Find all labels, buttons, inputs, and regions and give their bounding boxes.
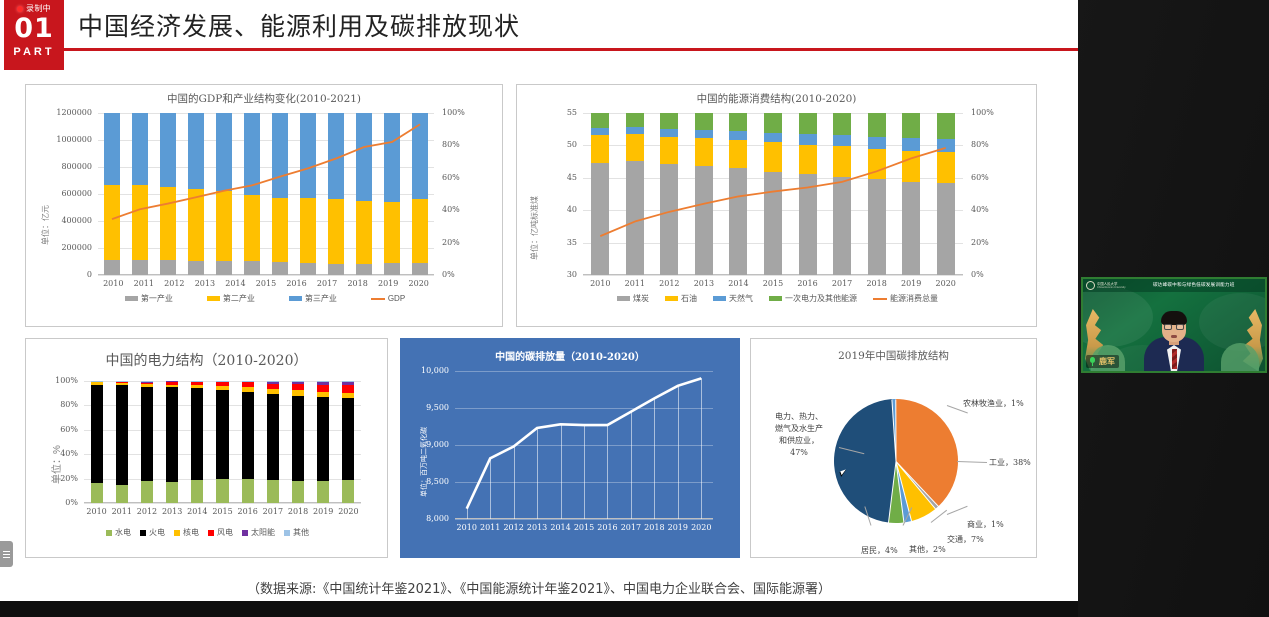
x-tick: 2011 [109,507,134,516]
part-word: PART [4,43,64,61]
legend-swatch [284,530,290,536]
plot-area-power: 0%20%40%60%80%100%2010201120122013201420… [84,381,361,503]
y2-tick: 40% [442,205,460,214]
chart-card-gdp: 中国的GDP和产业结构变化(2010-2021) 020000040000060… [25,84,503,327]
chart-card-carbon: 中国的碳排放量（2010-2020） 8,0008,5009,0009,5001… [400,338,740,558]
x-tick: 2012 [652,279,687,288]
bar-segment [216,386,228,390]
bar-segment [141,481,153,503]
data-line [455,371,713,519]
legend-item: 火电 [140,527,165,538]
x-tick: 2019 [894,279,929,288]
bar-segment [91,483,103,503]
panel-toggle-icon[interactable] [0,541,13,567]
gridline [583,275,963,276]
bar-segment [242,392,254,479]
bar-segment [216,479,228,503]
legend-item: 第二产业 [207,293,255,304]
x-tick: 2012 [502,523,525,532]
y2-tick: 80% [442,140,460,149]
y2-tick: 100% [971,108,994,117]
bar-segment [166,387,178,482]
legend-label: 能源消费总量 [890,293,938,304]
x-tick: 2020 [403,279,434,288]
y-tick: 35 [517,238,577,247]
video-header-bar: 中国人民大学 China Renmin University 碳达峰碳中和与绿色… [1083,279,1265,292]
legend-item: 其他 [284,527,309,538]
x-tick: 2011 [129,279,160,288]
x-tick: 2020 [336,507,361,516]
legend-swatch [617,296,630,301]
x-tick: 2017 [825,279,860,288]
legend-item: 能源消费总量 [873,293,938,304]
x-tick: 2014 [549,523,572,532]
chart-title-power: 中国的电力结构（2010-2020） [26,350,387,370]
x-tick: 2016 [235,507,260,516]
pie-label-line: 电力、热力、 [757,411,841,423]
bar-segment [141,387,153,482]
glasses-icon [1164,324,1184,330]
video-banner-text: 碳达峰碳中和与绿色低碳发展训能力班 [1153,282,1235,288]
chart-title-energy: 中国的能源消费结构(2010-2020) [517,91,1036,106]
plot-area-energy: 3035404550550%20%40%60%80%100%2010201120… [583,113,963,275]
slide-bottom-bar [0,601,1078,617]
bar-segment [191,388,203,479]
org-sub: China Renmin University [1097,286,1126,290]
x-tick: 2020 [690,523,713,532]
legend-swatch [371,298,385,300]
y-axis-label-carbon: 单位：百万吨二氧化碳 [419,427,429,497]
source-note: （数据来源:《中国统计年鉴2021》、《中国能源统计年鉴2021》、中国电力企业… [0,578,1078,597]
bar-segment [141,382,153,384]
part-badge: 录制中 01 PART [4,0,64,70]
bar-segment [317,397,329,480]
bar-segment [116,381,128,383]
y2-tick: 40% [971,205,989,214]
x-tick: 2019 [311,507,336,516]
x-tick: 2010 [98,279,129,288]
gridline [84,503,361,504]
legend-swatch [769,296,782,301]
bar-segment [267,394,279,480]
chart-card-power: 中国的电力结构（2010-2020） 0%20%40%60%80%100%201… [25,338,388,558]
bar-segment [242,382,254,387]
legend-label: 第二产业 [223,293,255,304]
recording-dot-icon [17,6,23,12]
bar-segment [141,384,153,386]
y-axis-label-energy: 单位：亿吨标准煤 [529,196,540,260]
legend-label: 石油 [681,293,697,304]
x-tick: 2013 [687,279,722,288]
bar-segment [216,390,228,479]
title-divider [64,48,1078,51]
legend-label: 水电 [115,527,131,538]
gridline [455,519,713,520]
slice-separator [895,399,896,461]
bar-segment [292,481,304,503]
legend-swatch [106,530,112,536]
y-tick: 50 [517,140,577,149]
meeting-window: 录制中 01 PART 中国经济发展、能源利用及碳排放现状 中国的GDP和产业结… [0,0,1269,617]
x-tick: 2015 [210,507,235,516]
legend-item: 风电 [208,527,233,538]
x-tick: 2014 [185,507,210,516]
legend-label: 天然气 [729,293,753,304]
x-tick: 2010 [455,523,478,532]
plot-area-carbon: 8,0008,5009,0009,50010,00020102011201220… [455,371,713,519]
y-tick: 0% [18,498,78,507]
x-tick: 2015 [572,523,595,532]
legend-label: 太阳能 [251,527,275,538]
legend-item: 太阳能 [242,527,275,538]
bar-segment [242,387,254,391]
x-tick: 2018 [342,279,373,288]
legend-power: 水电火电核电风电太阳能其他 [26,527,389,538]
legend-swatch [713,296,726,301]
legend-label: 第一产业 [141,293,173,304]
y-tick: 9,500 [389,403,449,412]
bar-segment [267,389,279,394]
pie-label-line: 和供应业， [757,435,841,447]
bar-segment [342,393,354,399]
pie-slice-label: 其他，2% [909,544,959,555]
y-tick: 40 [517,205,577,214]
bar-segment [116,385,128,485]
legend-item: 煤炭 [617,293,649,304]
x-tick: 2010 [583,279,618,288]
pie-slice-label: 工业，38% [989,457,1045,468]
legend-gdp: 第一产业第二产业第三产业GDP [26,293,504,304]
legend-label: GDP [388,294,405,303]
participant-name: 鹿军 [1099,356,1115,367]
y-tick: 55 [517,108,577,117]
legend-swatch [289,296,302,301]
legend-item: 石油 [665,293,697,304]
bar-segment [342,381,354,385]
y-tick: 10,000 [389,366,449,375]
y-tick: 1200000 [32,108,92,117]
bar-segment [292,384,304,390]
legend-swatch [125,296,138,301]
bar-segment [267,382,279,384]
legend-label: 一次电力及其他能源 [785,293,857,304]
bar-segment [191,381,203,382]
x-tick: 2015 [756,279,791,288]
bar-segment [91,382,103,384]
legend-item: 一次电力及其他能源 [769,293,857,304]
x-tick: 2016 [596,523,619,532]
data-line [98,113,434,275]
chart-title-gdp: 中国的GDP和产业结构变化(2010-2021) [26,91,502,106]
plot-area-gdp: 0200000400000600000800000100000012000000… [98,113,434,275]
legend-swatch [242,530,248,536]
legend-item: 水电 [106,527,131,538]
bar-segment [141,381,153,382]
y2-tick: 0% [442,270,455,279]
chart-title-carbon: 中国的碳排放量（2010-2020） [401,348,739,363]
bar-segment [166,381,178,384]
video-tile-participant[interactable]: 中国人民大学 China Renmin University 碳达峰碳中和与绿色… [1081,277,1267,373]
y-tick: 100% [18,376,78,385]
pie-slice-label: 电力、热力、燃气及水生产和供应业，47% [757,411,841,459]
y-tick: 800000 [32,162,92,171]
pie-slice-label: 商业，1% [967,519,1019,530]
y2-tick: 0% [971,270,984,279]
y-tick: 0 [32,270,92,279]
y2-tick: 60% [971,173,989,182]
pie-slice-label: 居民，4% [861,545,911,556]
bar-segment [342,398,354,480]
x-tick: 2013 [160,507,185,516]
data-line [583,113,963,275]
bar-segment [292,396,304,482]
y-tick: 60% [18,425,78,434]
slide-header: 中国经济发展、能源利用及碳排放现状 [64,0,1078,56]
x-tick: 2011 [618,279,653,288]
pie-label-line: 燃气及水生产 [757,423,841,435]
y-tick: 30 [517,270,577,279]
x-tick: 2015 [251,279,282,288]
leader-line [947,506,968,515]
y-tick: 80% [18,400,78,409]
x-tick: 2012 [159,279,190,288]
bar-segment [317,385,329,392]
y2-tick: 20% [442,238,460,247]
y2-tick: 20% [971,238,989,247]
legend-label: 风电 [217,527,233,538]
bar-segment [242,479,254,503]
legend-item: 核电 [174,527,199,538]
legend-swatch [174,530,180,536]
x-tick: 2017 [619,523,642,532]
x-tick: 2017 [312,279,343,288]
x-tick: 2017 [260,507,285,516]
legend-swatch [207,296,220,301]
legend-label: 煤炭 [633,293,649,304]
y2-tick: 60% [442,173,460,182]
legend-swatch [665,296,678,301]
leader-line [931,510,947,523]
pie-label-line: 47% [757,447,841,459]
y-tick: 600000 [32,189,92,198]
bar-segment [317,481,329,503]
x-tick: 2018 [285,507,310,516]
legend-item: 第三产业 [289,293,337,304]
page-title: 中国经济发展、能源利用及碳排放现状 [78,7,520,43]
legend-item: GDP [371,294,405,303]
y2-tick: 80% [971,140,989,149]
legend-label: 第三产业 [305,293,337,304]
x-tick: 2013 [525,523,548,532]
bar-segment [191,385,203,388]
legend-swatch [140,530,146,536]
y2-tick: 100% [442,108,465,117]
bar-segment [317,392,329,398]
x-tick: 2014 [721,279,756,288]
legend-energy: 煤炭石油天然气一次电力及其他能源能源消费总量 [517,293,1038,304]
x-tick: 2018 [643,523,666,532]
bar-segment [292,390,304,395]
x-tick: 2016 [281,279,312,288]
x-tick: 2010 [84,507,109,516]
legend-label: 火电 [149,527,165,538]
legend-item: 天然气 [713,293,753,304]
bar-segment [191,480,203,503]
gridline [98,275,434,276]
legend-item: 第一产业 [125,293,173,304]
bar-segment [342,385,354,392]
x-tick: 2019 [666,523,689,532]
x-tick: 2018 [859,279,894,288]
legend-label: 其他 [293,527,309,538]
chart-card-pie: 2019年中国碳排放结构 农林牧渔业，1%工业，38%商业，1%交通，7%其他，… [750,338,1037,558]
x-tick: 2013 [190,279,221,288]
bar-segment [91,381,103,382]
x-tick: 2016 [790,279,825,288]
part-number: 01 [4,15,64,43]
bar-segment [342,480,354,503]
chart-card-energy: 中国的能源消费结构(2010-2020) 3035404550550%20%40… [516,84,1037,327]
bar-segment [267,384,279,390]
microphone-icon [1088,357,1097,366]
pie-slice-label: 农林牧渔业，1% [963,398,1053,409]
university-logo-icon [1086,281,1095,290]
legend-label: 核电 [183,527,199,538]
participant-name-badge: 鹿军 [1086,355,1119,368]
bar-segment [91,385,103,483]
x-tick: 2019 [373,279,404,288]
y-tick: 1000000 [32,135,92,144]
bar-segment [242,381,254,382]
x-tick: 2020 [928,279,963,288]
shared-slide: 录制中 01 PART 中国经济发展、能源利用及碳排放现状 中国的GDP和产业结… [0,0,1078,601]
bar-segment [292,381,304,384]
y-tick: 45 [517,173,577,182]
leader-line [957,461,987,463]
x-tick: 2012 [134,507,159,516]
bar-segment [317,382,329,386]
bar-segment [116,485,128,503]
y-axis-label-gdp: 单位：亿元 [40,205,51,245]
legend-swatch [208,530,214,536]
bar-segment [116,383,128,385]
bar-segment [267,480,279,503]
plot-area-pie: 农林牧渔业，1%工业，38%商业，1%交通，7%其他，2%居民，4%电力、热力、… [751,339,1038,559]
x-tick: 2011 [478,523,501,532]
bar-segment [216,382,228,386]
bar-segment [166,385,178,388]
y-tick: 8,000 [389,514,449,523]
x-tick: 2014 [220,279,251,288]
bar-segment [191,382,203,385]
y-axis-label-power: 单位：% [48,445,63,484]
bar-segment [216,381,228,382]
bar-segment [166,482,178,503]
legend-swatch [873,298,887,300]
